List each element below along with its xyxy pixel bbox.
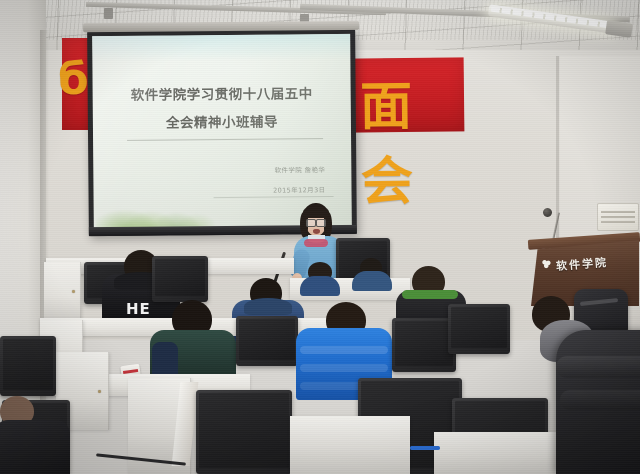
presenter-mouth xyxy=(313,229,320,234)
partition-back-1 xyxy=(44,262,81,320)
monitor-mid-3 xyxy=(448,304,510,354)
presenter-hair-front xyxy=(303,206,329,218)
monitor-front-3 xyxy=(196,390,292,474)
desk-front-center xyxy=(290,416,410,474)
classroom-photo: б 面会 软件学院学习贯彻十八届五中 全会精神小班辅导 软件学院 詹艳华 201… xyxy=(0,0,640,474)
projection-screen-surface: 软件学院学习贯彻十八届五中 全会精神小班辅导 软件学院 詹艳华 2015年12月… xyxy=(92,34,352,228)
air-vent-icon xyxy=(597,203,639,231)
student-far-back-2 xyxy=(352,258,392,284)
slide-author: 软件学院 詹艳华 xyxy=(275,164,326,174)
slide-divider-rule-2 xyxy=(214,196,334,198)
hoodie-graphic-text: HE xyxy=(126,300,151,318)
student-hood xyxy=(244,298,292,315)
slide-date: 2015年12月3日 xyxy=(273,184,326,194)
college-logo-icon xyxy=(541,258,553,270)
student-front-left-dark xyxy=(0,396,70,474)
banner-right-text: 面会 xyxy=(360,63,466,214)
monitor-mid-2 xyxy=(392,318,456,372)
foreground-black-jacket xyxy=(556,330,640,474)
banner-left-text: б xyxy=(58,54,91,105)
monitor-front-1 xyxy=(0,336,56,396)
blue-pen xyxy=(410,446,440,450)
screen-top-glow xyxy=(92,34,350,62)
slide-title-line1: 软件学院学习贯彻十八届五中 xyxy=(93,82,351,104)
beam-mount-a xyxy=(104,8,113,19)
banner-right: 面会 xyxy=(352,57,465,132)
student-far-back-1 xyxy=(300,262,340,290)
puffer-seam-1 xyxy=(300,346,388,354)
student-green-collar-trim xyxy=(402,290,458,299)
desk-front-right xyxy=(434,432,564,474)
slide-grass-graphic xyxy=(96,205,256,228)
microphone-icon xyxy=(543,208,552,217)
presenter-scarf xyxy=(304,239,328,247)
monitor-back-2 xyxy=(152,256,208,302)
monitor-mid-1 xyxy=(236,316,298,366)
slide-divider-rule xyxy=(127,138,323,141)
slide-title-line2: 全会精神小班辅导 xyxy=(93,110,351,132)
puffer-seam-2 xyxy=(300,364,388,372)
student-coat xyxy=(0,420,70,474)
glasses-icon xyxy=(306,219,326,225)
